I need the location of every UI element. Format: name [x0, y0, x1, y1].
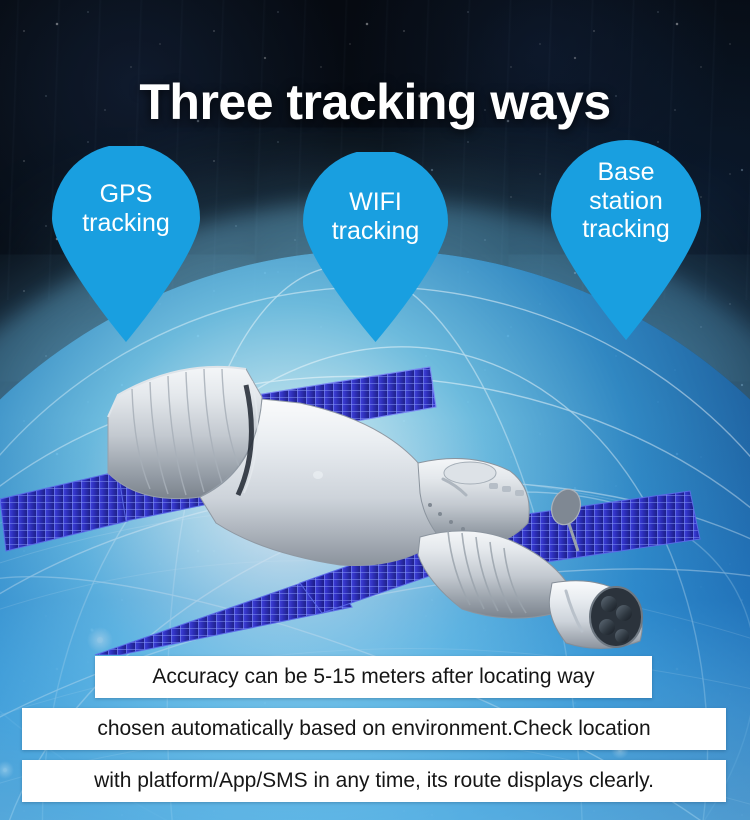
- caption-line-3: with platform/App/SMS in any time, its r…: [22, 760, 726, 802]
- pin-gps-label: GPS tracking: [52, 180, 200, 237]
- promo-poster: Three tracking ways GPS tracking WIFI tr…: [0, 0, 750, 820]
- aft-module: [549, 581, 642, 649]
- caption-line-2: chosen automatically based on environmen…: [22, 708, 726, 750]
- page-title: Three tracking ways: [0, 76, 750, 129]
- map-pin-icon: [303, 152, 448, 342]
- map-pin-icon: [52, 146, 200, 342]
- pin-wifi-label: WIFI tracking: [303, 188, 448, 245]
- pin-wifi[interactable]: WIFI tracking: [303, 152, 448, 342]
- pin-base-station-label: Base station tracking: [551, 158, 701, 244]
- pin-base-station[interactable]: Base station tracking: [551, 140, 701, 340]
- caption-line-1: Accuracy can be 5-15 meters after locati…: [95, 656, 652, 698]
- space-station-satellite: [0, 355, 750, 655]
- pin-gps[interactable]: GPS tracking: [52, 146, 200, 342]
